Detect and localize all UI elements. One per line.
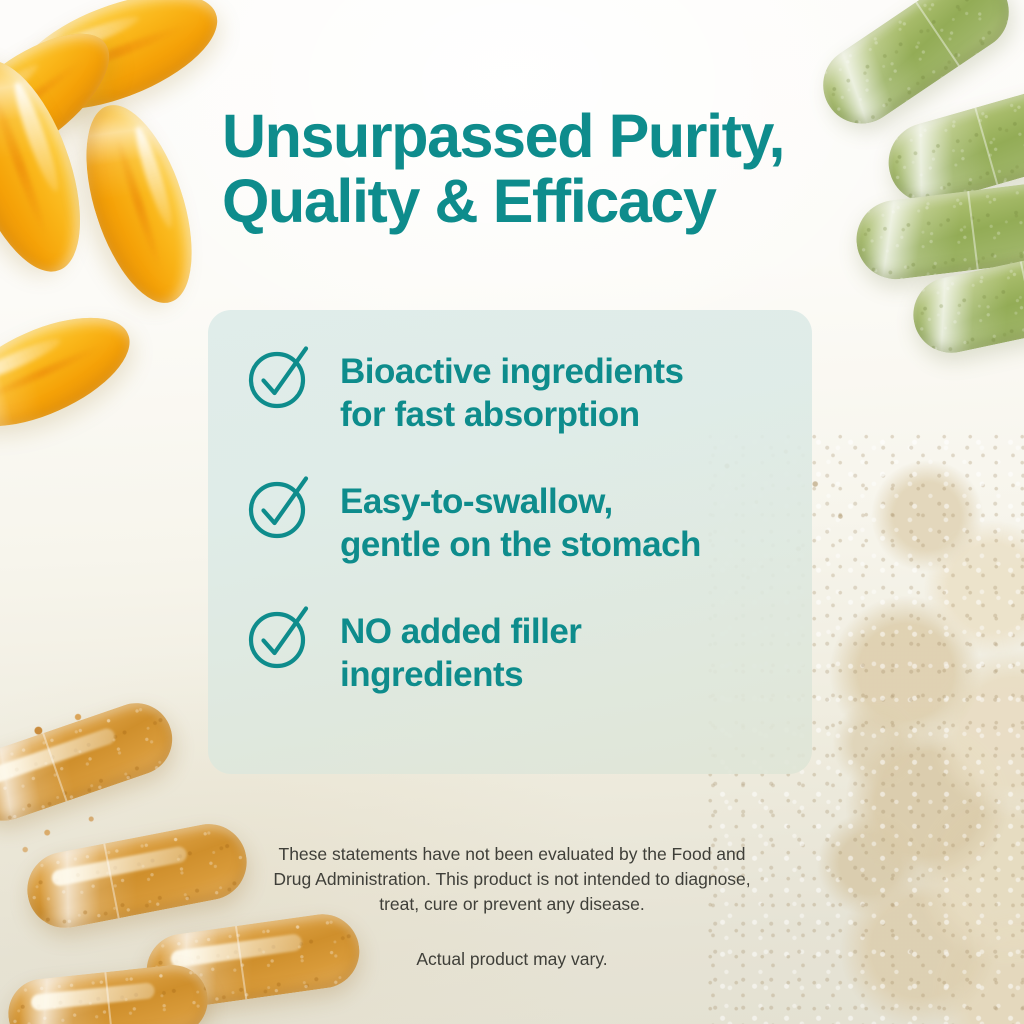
benefit-line-2: for fast absorption	[340, 394, 683, 437]
benefit-line-1: NO added filler	[340, 611, 581, 654]
disclaimer-block: These statements have not been evaluated…	[212, 842, 812, 971]
check-circle-icon	[244, 599, 318, 673]
product-variance-note: Actual product may vary.	[212, 947, 812, 972]
benefit-text: Bioactive ingredients for fast absorptio…	[340, 342, 683, 436]
benefit-item-easy-swallow: Easy-to-swallow, gentle on the stomach	[244, 472, 784, 602]
benefits-list: Bioactive ingredients for fast absorptio…	[208, 310, 812, 732]
benefit-line-2: gentle on the stomach	[340, 524, 701, 567]
fda-disclaimer-line-2: Drug Administration. This product is not…	[212, 867, 812, 892]
softgel-capsule	[65, 92, 212, 315]
benefit-line-1: Easy-to-swallow,	[340, 481, 701, 524]
check-circle-icon	[244, 339, 318, 413]
turmeric-capsule	[0, 693, 182, 830]
turmeric-capsule	[5, 962, 211, 1024]
check-circle-icon	[244, 469, 318, 543]
page-title-line-2: Quality & Efficacy	[222, 169, 862, 234]
benefit-item-bioactive: Bioactive ingredients for fast absorptio…	[244, 342, 784, 472]
benefits-card: Bioactive ingredients for fast absorptio…	[208, 310, 812, 774]
benefit-item-no-fillers: NO added filler ingredients	[244, 602, 784, 732]
benefit-text: NO added filler ingredients	[340, 602, 581, 696]
page-title: Unsurpassed Purity, Quality & Efficacy	[222, 104, 862, 233]
benefit-text: Easy-to-swallow, gentle on the stomach	[340, 472, 701, 566]
fda-disclaimer-line-1: These statements have not been evaluated…	[212, 842, 812, 867]
fda-disclaimer-line-3: treat, cure or prevent any disease.	[212, 892, 812, 917]
benefit-line-1: Bioactive ingredients	[340, 351, 683, 394]
page-title-line-1: Unsurpassed Purity,	[222, 104, 862, 169]
benefit-line-2: ingredients	[340, 654, 581, 697]
softgel-capsule	[0, 295, 145, 448]
promo-graphic: Unsurpassed Purity, Quality & Efficacy B…	[0, 0, 1024, 1024]
